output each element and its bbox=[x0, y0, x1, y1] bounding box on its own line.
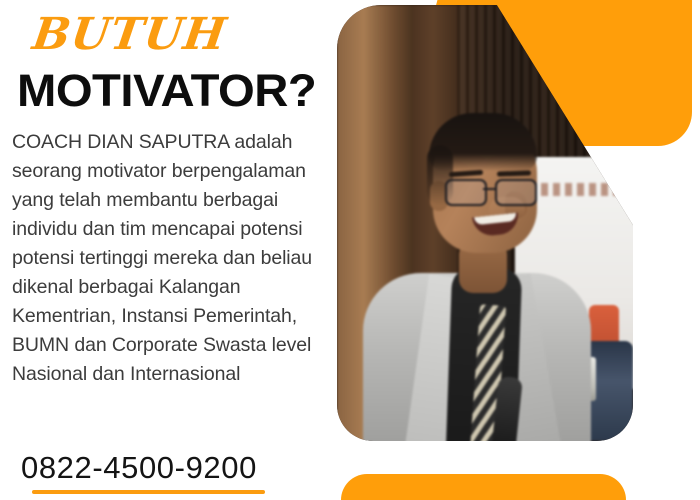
body-paragraph-text: COACH DIAN SAPUTRA adalah seorang motiva… bbox=[12, 131, 312, 385]
page-title: MOTIVATOR? bbox=[17, 68, 316, 113]
body-paragraph: COACH DIAN SAPUTRA adalah seorang motiva… bbox=[12, 128, 332, 389]
contact-phone-underline bbox=[32, 490, 265, 494]
photo-glasses-lens-right bbox=[495, 179, 537, 206]
photo-person-glasses bbox=[445, 179, 537, 203]
photo-projector-screen-text bbox=[529, 183, 629, 196]
contact-phone-number[interactable]: 0822-4500-9200 bbox=[21, 452, 257, 483]
headline-script-word: BUTUH bbox=[30, 13, 229, 57]
photo-glasses-lens-left bbox=[445, 179, 487, 206]
promo-poster: BUTUH MOTIVATOR? COACH DIAN SAPUTRA adal… bbox=[0, 0, 700, 500]
orange-accent-shape-bottom bbox=[341, 474, 626, 500]
